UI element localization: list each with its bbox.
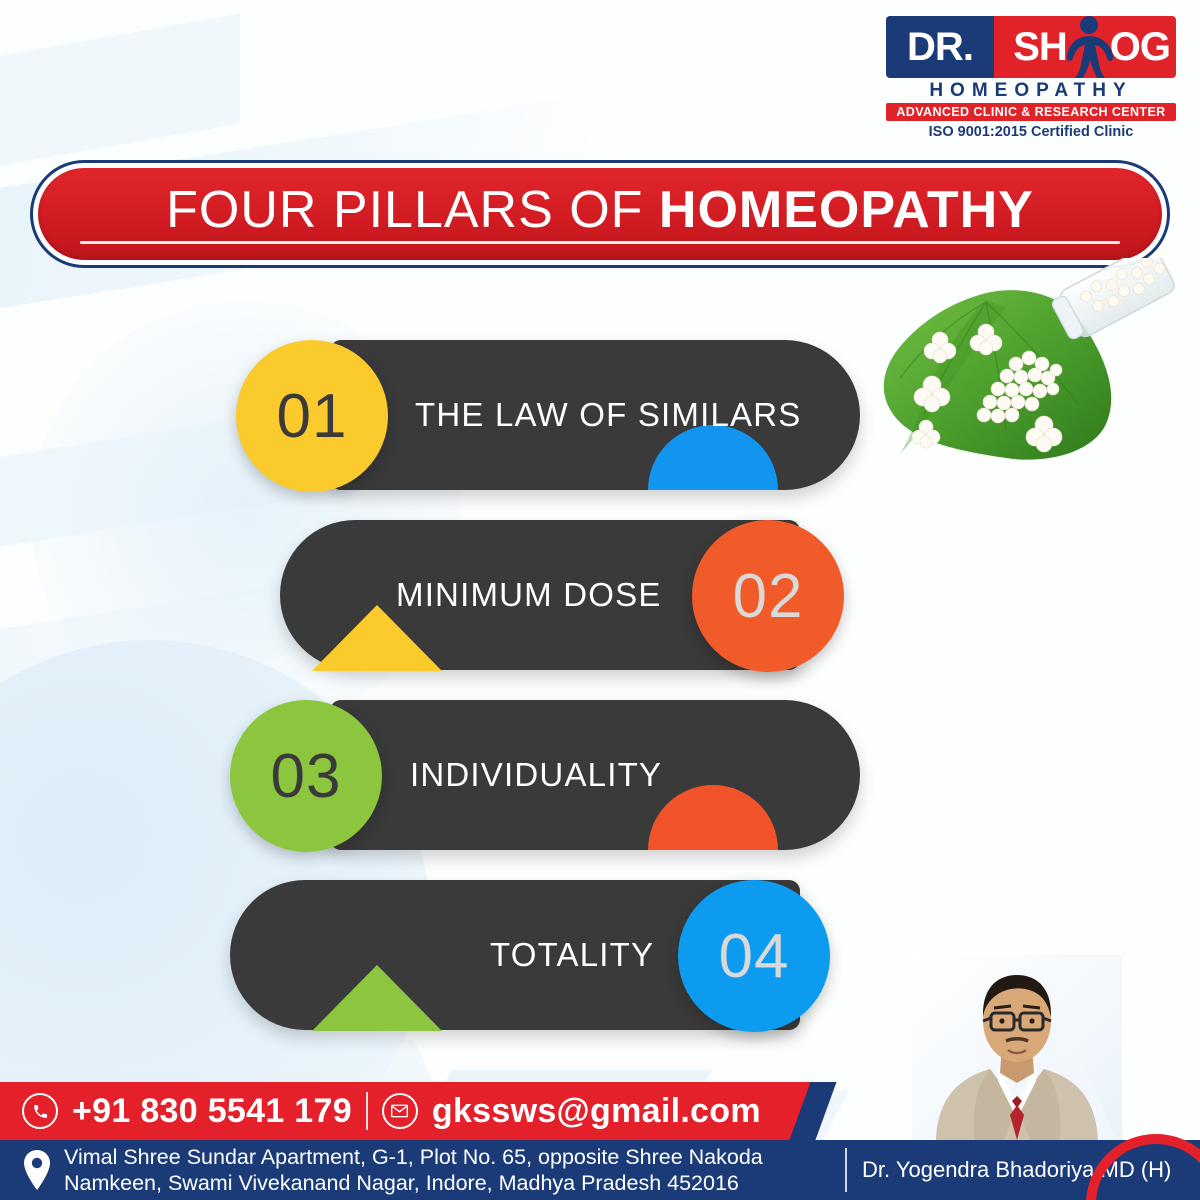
title-bold-part: HOMEOPATHY xyxy=(659,181,1034,239)
brand-logo: TM DR. SH OG HOMEOPATHY ADVANCED CLINIC … xyxy=(886,16,1176,140)
logo-tagline: ADVANCED CLINIC & RESEARCH CENTER xyxy=(886,103,1176,121)
envelope-icon[interactable] xyxy=(382,1093,418,1129)
logo-dr-block: DR. xyxy=(886,16,994,78)
phone-icon[interactable] xyxy=(22,1093,58,1129)
logo-sh-text: SH xyxy=(1013,27,1067,67)
footer-vertical-divider xyxy=(845,1148,847,1192)
pillar-label-2: MINIMUM DOSE xyxy=(396,520,662,670)
footer-separator xyxy=(366,1092,368,1130)
pillar-number-3[interactable]: 03 xyxy=(230,700,382,852)
pillar-number-2[interactable]: 02 xyxy=(692,520,844,672)
footer-address-line-1: Vimal Shree Sundar Apartment, G-1, Plot … xyxy=(64,1144,763,1170)
logo-wordmark: DR. SH OG xyxy=(886,16,1176,78)
title-inner-pill: FOUR PILLARS OF HOMEOPATHY xyxy=(36,166,1164,262)
pillar-label-4: TOTALITY xyxy=(490,880,654,1030)
logo-dr-text: DR. xyxy=(907,27,973,67)
footer-address: Vimal Shree Sundar Apartment, G-1, Plot … xyxy=(64,1144,763,1196)
logo-og-text: OG xyxy=(1110,27,1170,67)
page-title: FOUR PILLARS OF HOMEOPATHY xyxy=(166,184,1034,244)
footer-address-line-2: Namkeen, Swami Vivekanand Nagar, Indore,… xyxy=(64,1170,763,1196)
title-underline xyxy=(80,241,1120,244)
pillar-row-1[interactable]: THE LAW OF SIMILARS 01 xyxy=(0,340,1200,500)
footer: +91 830 5541 179 gkssws@gmail.com Vimal … xyxy=(0,1082,1200,1200)
bg-polygon-top xyxy=(0,14,240,177)
footer-email[interactable]: gkssws@gmail.com xyxy=(432,1092,761,1131)
title-banner: FOUR PILLARS OF HOMEOPATHY xyxy=(30,160,1170,268)
footer-phone-number[interactable]: +91 830 5541 179 xyxy=(72,1092,352,1131)
pillar-row-2[interactable]: MINIMUM DOSE 02 xyxy=(0,520,1200,680)
title-light-part: FOUR PILLARS OF xyxy=(166,181,659,239)
footer-contact-row: +91 830 5541 179 gkssws@gmail.com xyxy=(22,1082,761,1140)
running-person-icon xyxy=(1061,16,1117,78)
pillar-label-3: INDIVIDUALITY xyxy=(410,700,662,850)
footer-address-row: Vimal Shree Sundar Apartment, G-1, Plot … xyxy=(22,1140,763,1200)
pillar-accent-triangle-4 xyxy=(312,965,442,1031)
logo-certification: ISO 9001:2015 Certified Clinic xyxy=(886,124,1176,140)
pillar-label-1: THE LAW OF SIMILARS xyxy=(415,340,801,490)
pillar-number-4[interactable]: 04 xyxy=(678,880,830,1032)
logo-subtitle: HOMEOPATHY xyxy=(886,80,1176,102)
map-pin-icon xyxy=(22,1149,52,1191)
pillar-row-3[interactable]: INDIVIDUALITY 03 xyxy=(0,700,1200,860)
pillar-number-1[interactable]: 01 xyxy=(236,340,388,492)
poster-canvas: TM DR. SH OG HOMEOPATHY ADVANCED CLINIC … xyxy=(0,0,1200,1200)
